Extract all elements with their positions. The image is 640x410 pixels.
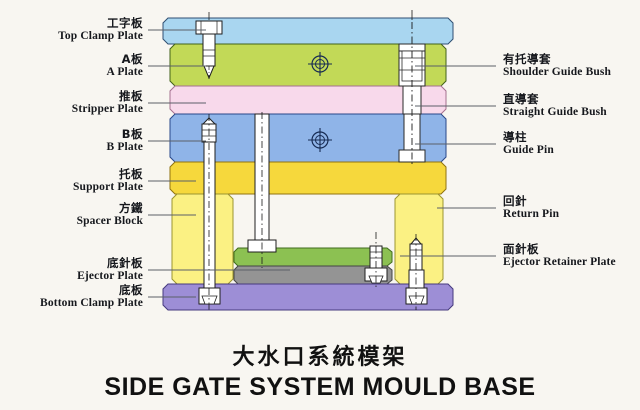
label-cn: 方鐵 [10, 202, 143, 215]
label-en: Guide Pin [503, 144, 554, 157]
label-en: Support Plate [10, 181, 143, 194]
spacer-block-left [172, 194, 233, 284]
label-cn: 底板 [2, 284, 143, 297]
label-bottom-clamp-plate: 底板 Bottom Clamp Plate [2, 284, 143, 310]
label-spacer-block: 方鐵 Spacer Block [10, 202, 143, 228]
title-block: 大水口系統模架 SIDE GATE SYSTEM MOULD BASE [0, 344, 640, 402]
label-en: Top Clamp Plate [10, 30, 143, 43]
label-en: B Plate [10, 141, 143, 154]
label-en: Stripper Plate [10, 103, 143, 116]
label-top-clamp-plate: 工字板 Top Clamp Plate [10, 17, 143, 43]
diagram-root: 工字板 Top Clamp Plate A板 A Plate 推板 Stripp… [0, 0, 640, 410]
label-straight-guide-bush: 直導套 Straight Guide Bush [503, 93, 607, 119]
label-shoulder-guide-bush: 有托導套 Shoulder Guide Bush [503, 53, 611, 79]
label-cn: 導柱 [503, 131, 554, 144]
label-cn: 推板 [10, 90, 143, 103]
label-cn: 直導套 [503, 93, 607, 106]
label-support-plate: 托板 Support Plate [10, 168, 143, 194]
label-en: Straight Guide Bush [503, 106, 607, 119]
label-en: Ejector Retainer Plate [503, 256, 616, 269]
label-cn: A板 [10, 53, 143, 66]
label-stripper-plate: 推板 Stripper Plate [10, 90, 143, 116]
label-cn: 托板 [10, 168, 143, 181]
label-cn: 面針板 [503, 243, 616, 256]
label-en: Ejector Plate [10, 270, 143, 283]
label-guide-pin: 導柱 Guide Pin [503, 131, 554, 157]
label-cn: 工字板 [10, 17, 143, 30]
label-cn: 底針板 [10, 257, 143, 270]
label-cn: 有托導套 [503, 53, 611, 66]
label-en: Return Pin [503, 208, 559, 221]
label-en: Spacer Block [10, 215, 143, 228]
label-en: Shoulder Guide Bush [503, 66, 611, 79]
page-title-english: SIDE GATE SYSTEM MOULD BASE [0, 372, 640, 402]
label-ejector-plate: 底針板 Ejector Plate [10, 257, 143, 283]
label-en: Bottom Clamp Plate [2, 297, 143, 310]
label-cn: 回針 [503, 195, 559, 208]
label-return-pin: 回針 Return Pin [503, 195, 559, 221]
page-title-chinese: 大水口系統模架 [0, 344, 640, 372]
label-cn: B板 [10, 128, 143, 141]
label-b-plate: B板 B Plate [10, 128, 143, 154]
label-a-plate: A板 A Plate [10, 53, 143, 79]
label-en: A Plate [10, 66, 143, 79]
label-ejector-retainer-plate: 面針板 Ejector Retainer Plate [503, 243, 616, 269]
